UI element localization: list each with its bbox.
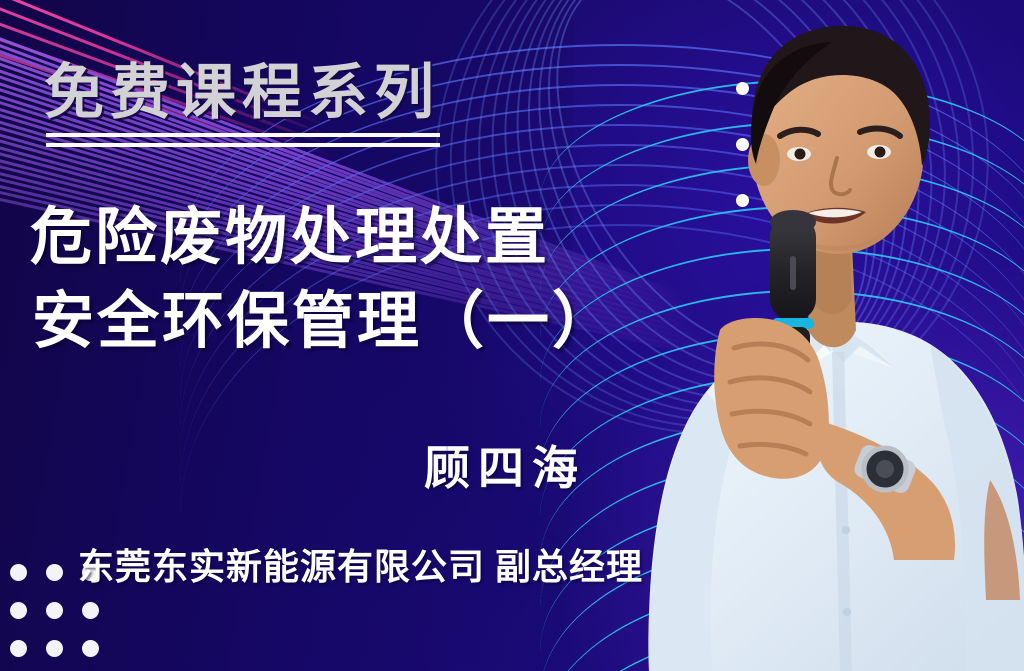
speaker-affiliation: 东莞东实新能源有限公司 副总经理: [78, 538, 643, 590]
divider-rule-bottom: [46, 143, 440, 147]
page-title-line-2: 安全环保管理（一）: [30, 280, 710, 364]
course-poster: 免费课程系列 危险废物处理处置 安全环保管理（一） 顾四海 东莞东实新能源有限公…: [0, 0, 1024, 671]
title-divider-rules: [46, 133, 440, 147]
speaker-name: 顾四海: [424, 432, 586, 498]
series-kicker-label: 免费课程系列: [44, 44, 440, 131]
page-title-line-1: 危险废物处理处置: [30, 196, 710, 280]
page-title: 危险废物处理处置 安全环保管理（一）: [30, 196, 710, 365]
divider-rule-top: [46, 133, 440, 137]
